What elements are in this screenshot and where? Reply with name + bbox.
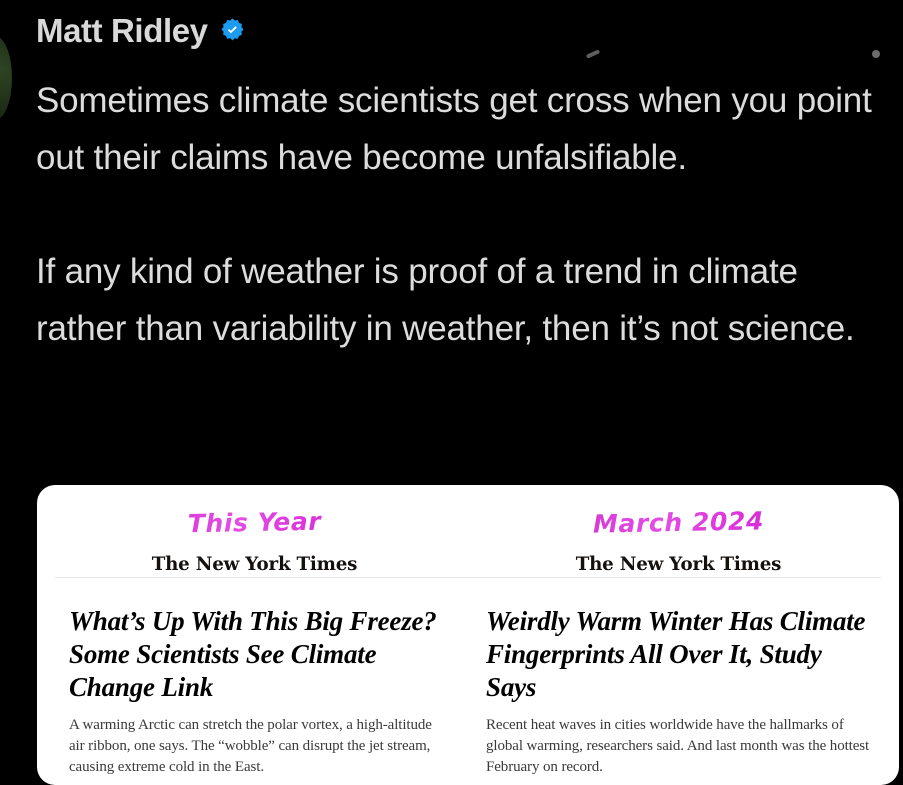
annotation-march-2024: March 2024 — [486, 504, 871, 540]
card-column-this-year: This Year The New York Times What’s Up W… — [37, 485, 468, 778]
tweet-handle-fragment — [586, 49, 600, 58]
paragraph-spacer — [36, 186, 886, 243]
masthead-divider — [55, 577, 881, 578]
card-column-march-2024: March 2024 The New York Times Weirdly Wa… — [468, 485, 899, 778]
article-headline-left[interactable]: What’s Up With This Big Freeze? Some Sci… — [69, 605, 440, 704]
article-blurb-left: A warming Arctic can stretch the polar v… — [69, 715, 440, 778]
card-columns: This Year The New York Times What’s Up W… — [37, 485, 899, 778]
tweet-paragraph-1: Sometimes climate scientists get cross w… — [36, 72, 886, 186]
tweet-author-row[interactable]: Matt Ridley — [36, 14, 246, 47]
embedded-media-card[interactable]: This Year The New York Times What’s Up W… — [37, 485, 899, 785]
nyt-masthead-left: The New York Times — [76, 553, 432, 575]
tweet-paragraph-2: If any kind of weather is proof of a tre… — [36, 243, 886, 357]
avatar[interactable] — [0, 36, 12, 120]
author-display-name: Matt Ridley — [36, 14, 208, 47]
verified-badge-icon — [219, 17, 246, 44]
annotation-this-year: This Year — [69, 504, 440, 540]
nyt-masthead-right: The New York Times — [494, 553, 864, 575]
article-blurb-right: Recent heat waves in cities worldwide ha… — [486, 715, 871, 778]
tweet-body: Sometimes climate scientists get cross w… — [36, 72, 886, 357]
article-headline-right[interactable]: Weirdly Warm Winter Has Climate Fingerpr… — [486, 605, 871, 704]
more-options-icon[interactable] — [872, 50, 880, 58]
